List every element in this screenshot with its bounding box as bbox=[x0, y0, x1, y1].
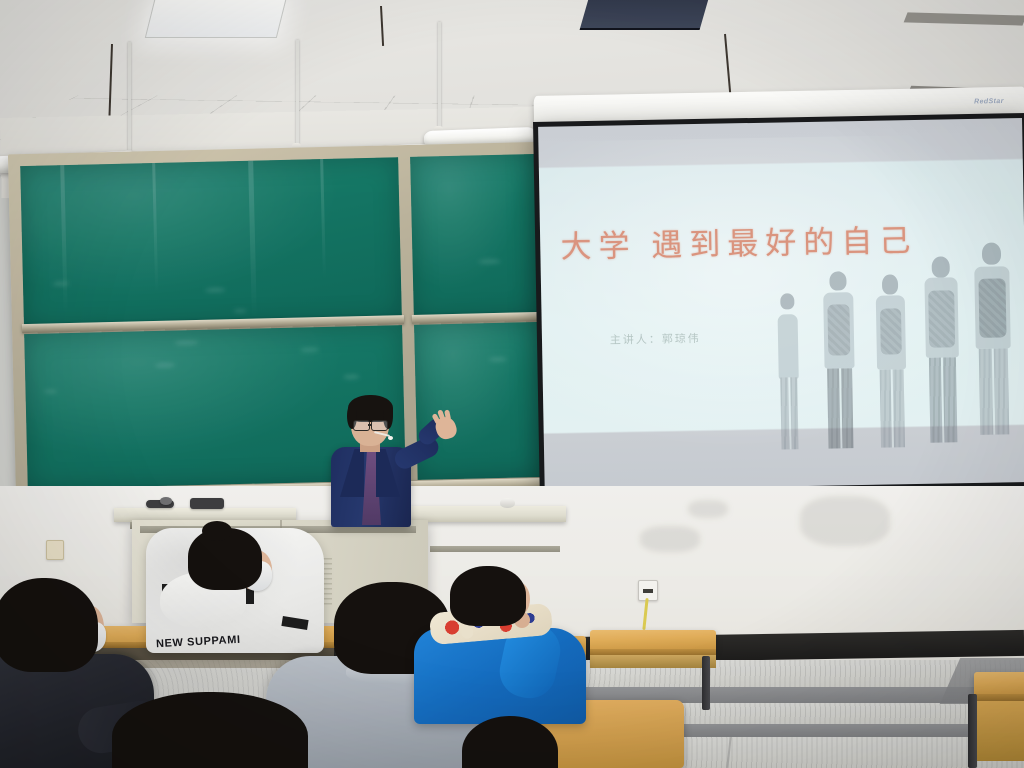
screen-brand-label: RedStar bbox=[974, 98, 1004, 106]
board-panel-upper-left bbox=[20, 157, 402, 329]
headset-microphone-tip bbox=[388, 436, 393, 440]
jacket-text: NEW SUPPAMI bbox=[156, 634, 241, 650]
computer-mouse[interactable] bbox=[500, 498, 515, 508]
wall-plate-left[interactable] bbox=[46, 540, 64, 560]
classroom-photo: RedStar 大学 遇到最好的自己 主讲人：郭琼伟 bbox=[0, 0, 1024, 768]
presenter bbox=[318, 395, 468, 525]
student-hair bbox=[112, 692, 308, 768]
student-blue-puffer bbox=[418, 566, 593, 716]
desk-row-far-right bbox=[974, 672, 1024, 768]
blackboard bbox=[8, 142, 556, 507]
eyeglasses-lens-right bbox=[371, 420, 388, 431]
walker-figure bbox=[763, 242, 814, 454]
walker-figure bbox=[865, 240, 916, 452]
recessed-light-panel bbox=[145, 0, 287, 38]
lamp-rod bbox=[296, 40, 299, 146]
board-panel-upper-right bbox=[410, 154, 542, 320]
eyeglasses-bridge bbox=[368, 424, 372, 426]
walker-figure bbox=[967, 238, 1018, 450]
student-hair-bun bbox=[202, 521, 232, 541]
ceiling-gap bbox=[904, 12, 1024, 25]
student-foreground-right bbox=[462, 716, 558, 768]
projector-screen: 大学 遇到最好的自己 主讲人：郭琼伟 bbox=[533, 113, 1024, 496]
student-hair bbox=[0, 578, 98, 672]
podium-device bbox=[190, 498, 224, 509]
student-hair bbox=[450, 566, 526, 626]
student-hair bbox=[462, 716, 558, 768]
walker-figure bbox=[814, 241, 865, 453]
desk-row-right bbox=[590, 630, 716, 710]
slide-subtitle: 主讲人：郭琼伟 bbox=[610, 330, 701, 348]
podium-tray-right-rail bbox=[430, 546, 560, 552]
walker-figure bbox=[916, 239, 967, 451]
lamp-rod bbox=[438, 22, 441, 128]
student-foreground-left bbox=[112, 692, 312, 768]
ceiling-vent-panel bbox=[580, 0, 711, 30]
podium-connector bbox=[160, 497, 172, 505]
ceiling-wire bbox=[380, 6, 384, 46]
projected-slide: 大学 遇到最好的自己 主讲人：郭琼伟 bbox=[538, 118, 1024, 491]
ceiling-wire bbox=[724, 34, 732, 100]
slide-artwork-students-walking bbox=[763, 238, 1018, 454]
outlet-cord bbox=[642, 598, 648, 630]
lamp-rod bbox=[128, 42, 131, 154]
